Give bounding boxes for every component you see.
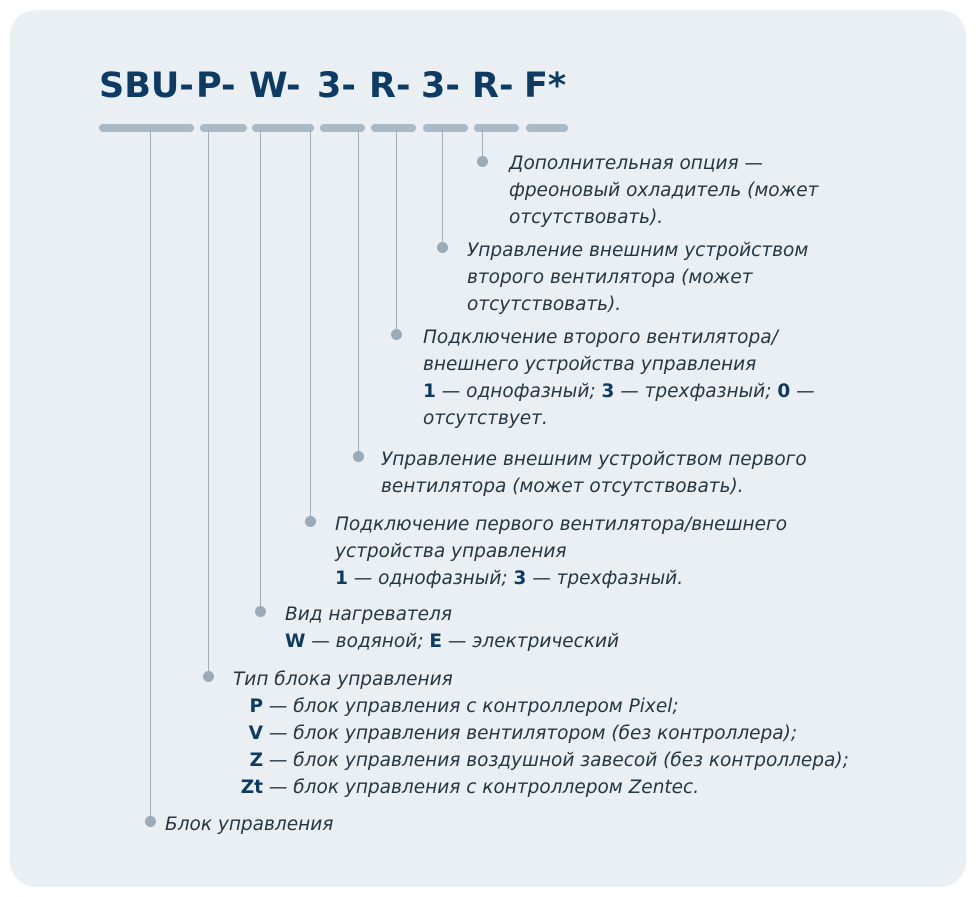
callout-line: внешнего устройства управления	[423, 351, 815, 378]
callout-heater-type: Вид нагревателя W — водяной; E — электри…	[285, 601, 619, 655]
callout-line: Управление внешним устройством первого	[381, 446, 807, 473]
connector-line-3a	[310, 128, 311, 519]
callout-first-fan-external-control: Управление внешним устройством первого в…	[381, 446, 807, 500]
code-segment-sbu: SBU-	[99, 66, 194, 106]
option-text-0: —	[790, 381, 814, 402]
option-text-w: — водяной;	[305, 631, 429, 652]
option-marker-z: Z	[233, 747, 263, 774]
connector-dot-w	[255, 606, 266, 617]
option-text-3: — трехфазный;	[614, 381, 777, 402]
underline-bar-w	[252, 124, 314, 132]
underline-bar-sbu	[99, 124, 194, 132]
callout-heading: Вид нагревателя	[285, 601, 619, 628]
option-text-v: — блок управления вентилятором (без конт…	[263, 723, 797, 744]
connector-line-sbu	[150, 128, 151, 819]
callout-line: Подключение второго вентилятора/	[423, 324, 815, 351]
underline-bar-f	[526, 124, 568, 132]
callout-line: вентилятора (может отсутствовать).	[381, 473, 807, 500]
option-text-p: — блок управления с контроллером Pixel;	[263, 696, 679, 717]
callout-line: отсутствует.	[423, 405, 815, 432]
option-text-1: — однофазный;	[348, 568, 514, 589]
option-row: Zt — блок управления с контроллером Zent…	[233, 774, 849, 801]
callout-second-fan-connection: Подключение второго вентилятора/ внешнег…	[423, 324, 815, 432]
code-segment-p: P-	[196, 66, 236, 106]
callout-freon-cooler: Дополнительная опция — фреоновый охладит…	[509, 150, 818, 231]
callout-line-options: W — водяной; E — электрический	[285, 628, 619, 655]
option-text-e: — электрический	[442, 631, 619, 652]
product-code-row: SBU- P- W- 3- R- 3- R- F*	[10, 10, 966, 140]
callout-line: фреоновый охладитель (может	[509, 177, 818, 204]
callout-line: второго вентилятора (может	[467, 264, 808, 291]
option-marker-w: W	[285, 631, 305, 652]
underline-bar-rb	[474, 124, 519, 132]
connector-line-ra	[358, 128, 359, 454]
option-marker-zt: Zt	[233, 774, 263, 801]
code-segment-rb: R-	[472, 66, 513, 106]
code-segment-3b: 3-	[421, 66, 460, 106]
code-segment-w: W-	[249, 66, 301, 106]
callout-line: Блок управления	[165, 811, 333, 838]
callout-line: Управление внешним устройством	[467, 237, 808, 264]
connector-line-rb	[442, 128, 443, 247]
callout-line-options: 1 — однофазный; 3 — трехфазный; 0 —	[423, 378, 815, 405]
underline-bar-ra	[371, 124, 416, 132]
callout-line-options: 1 — однофазный; 3 — трехфазный.	[335, 565, 787, 592]
option-marker-0: 0	[777, 381, 790, 402]
connector-dot-ra	[353, 451, 364, 462]
diagram-panel: SBU- P- W- 3- R- 3- R- F* Дополнительная…	[10, 10, 966, 887]
callout-control-unit-type: Тип блока управления P — блок управления…	[233, 666, 849, 801]
callout-second-fan-external-control: Управление внешним устройством второго в…	[467, 237, 808, 318]
option-text-1: — однофазный;	[436, 381, 602, 402]
callout-control-unit: Блок управления	[165, 811, 333, 838]
callout-first-fan-connection: Подключение первого вентилятора/внешнего…	[335, 511, 787, 592]
connector-dot-f	[477, 156, 488, 167]
option-marker-p: P	[233, 693, 263, 720]
option-row: V — блок управления вентилятором (без ко…	[233, 720, 849, 747]
option-text-zt: — блок управления с контроллером Zentec.	[263, 777, 699, 798]
connector-line-p	[208, 128, 209, 674]
option-marker-3: 3	[514, 568, 527, 589]
option-text-3: — трехфазный.	[526, 568, 683, 589]
option-marker-e: E	[429, 631, 442, 652]
connector-dot-3a	[305, 516, 316, 527]
connector-line-w	[260, 128, 261, 609]
connector-line-3b	[396, 128, 397, 334]
underline-bar-3b	[423, 124, 468, 132]
connector-dot-p	[203, 671, 214, 682]
connector-dot-sbu	[145, 816, 156, 827]
callout-line: отсутствовать).	[509, 204, 818, 231]
code-segment-ra: R-	[369, 66, 410, 106]
option-marker-1: 1	[335, 568, 348, 589]
connector-dot-3b	[391, 329, 402, 340]
code-segment-3a: 3-	[317, 66, 356, 106]
callout-line: Дополнительная опция —	[509, 150, 818, 177]
option-marker-v: V	[233, 720, 263, 747]
option-marker-1: 1	[423, 381, 436, 402]
callout-line: устройства управления	[335, 538, 787, 565]
callout-line: Подключение первого вентилятора/внешнего	[335, 511, 787, 538]
callout-line: отсутствовать).	[467, 291, 808, 318]
option-text-z: — блок управления воздушной завесой (без…	[263, 750, 849, 771]
callout-heading: Тип блока управления	[233, 666, 849, 693]
option-row: P — блок управления с контроллером Pixel…	[233, 693, 849, 720]
option-marker-3: 3	[602, 381, 615, 402]
connector-dot-rb	[437, 242, 448, 253]
code-segment-f: F*	[524, 66, 566, 106]
option-row: Z — блок управления воздушной завесой (б…	[233, 747, 849, 774]
